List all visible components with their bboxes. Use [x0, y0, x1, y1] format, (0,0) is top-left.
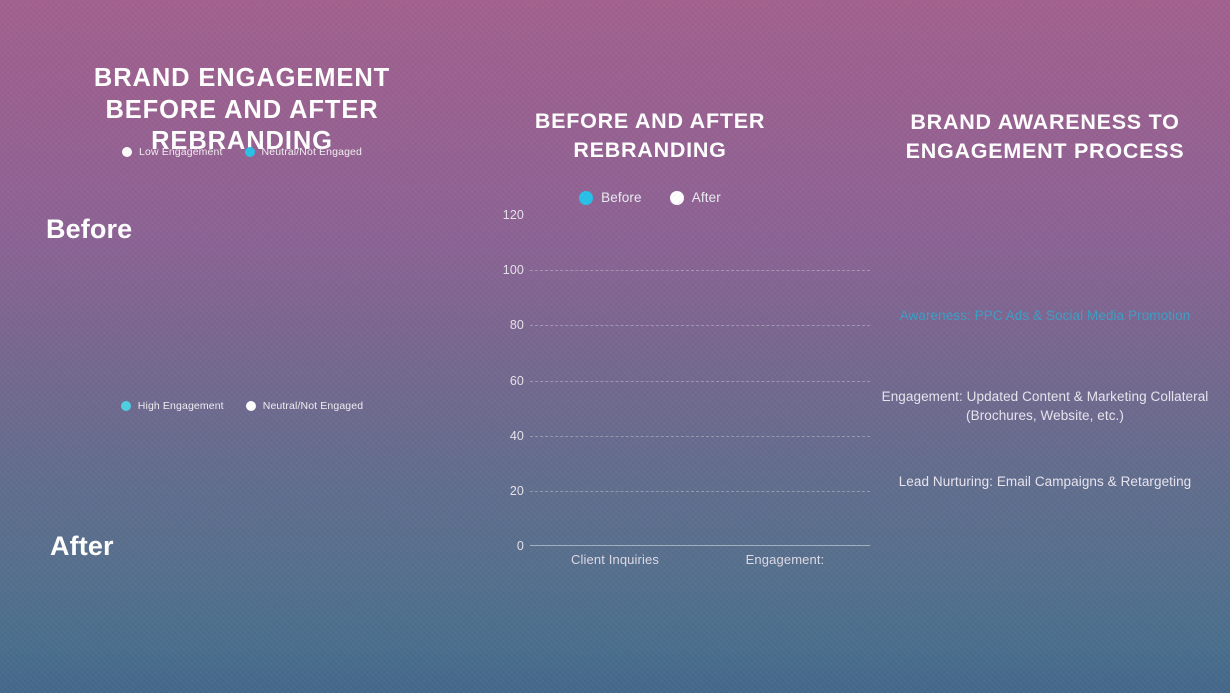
y-axis-tick-label: 100 — [503, 263, 524, 277]
legend-dot-icon — [246, 401, 256, 411]
legend-after-group: High Engagement Neutral/Not Engaged — [52, 400, 432, 412]
chart-legend: Before After — [460, 190, 840, 205]
chart-bars-layer — [530, 215, 870, 546]
legend-dot-icon — [579, 191, 593, 205]
chart-title: BEFORE AND AFTER REBRANDING — [460, 107, 840, 164]
y-axis: 020406080100120 — [485, 215, 530, 546]
panel-brand-engagement: BRAND ENGAGEMENT BEFORE AND AFTER REBRAN… — [0, 0, 440, 693]
funnel-step-engagement[interactable]: Engagement: Updated Content & Marketing … — [870, 387, 1220, 425]
funnel-step-awareness[interactable]: Awareness: PPC Ads & Social Media Promot… — [870, 306, 1220, 325]
legend-dot-icon — [670, 191, 684, 205]
chart-legend-item-before[interactable]: Before — [579, 190, 642, 205]
funnel-step-lead-nurturing[interactable]: Lead Nurturing: Email Campaigns & Retarg… — [870, 472, 1220, 491]
chart-legend-item-after[interactable]: After — [670, 190, 721, 205]
chart-plot-wrapper: 020406080100120 Client InquiriesEngageme… — [485, 215, 870, 550]
chart-legend-label: After — [692, 190, 721, 205]
y-axis-tick-label: 20 — [510, 484, 524, 498]
legend-item-neutral-not-engaged: Neutral/Not Engaged — [246, 400, 363, 412]
legend-label: Low Engagement — [139, 146, 223, 158]
legend-label: High Engagement — [138, 400, 224, 412]
y-axis-tick-label: 120 — [503, 208, 524, 222]
legend-item-high-engagement: High Engagement — [121, 400, 224, 412]
legend-before-group: Low Engagement Neutral/Not Engaged — [52, 146, 432, 158]
chart-baseline — [530, 545, 870, 546]
y-axis-tick-label: 80 — [510, 318, 524, 332]
funnel-step-list: Awareness: PPC Ads & Social Media Promot… — [870, 290, 1220, 492]
y-axis-tick-label: 0 — [517, 539, 524, 553]
legend-dot-icon — [121, 401, 131, 411]
panel-awareness-funnel: BRAND AWARENESS TO ENGAGEMENT PROCESS Aw… — [860, 0, 1230, 693]
legend-dot-icon — [245, 147, 255, 157]
chart-plot-area — [530, 215, 870, 546]
legend-label: Neutral/Not Engaged — [263, 400, 363, 412]
y-axis-tick-label: 40 — [510, 429, 524, 443]
slide-root: BRAND ENGAGEMENT BEFORE AND AFTER REBRAN… — [0, 0, 1230, 693]
panel-before-after-chart: BEFORE AND AFTER REBRANDING Before After… — [440, 0, 860, 693]
x-axis-tick-label: Client Inquiries — [530, 552, 700, 567]
legend-label: Neutral/Not Engaged — [262, 146, 362, 158]
x-axis: Client InquiriesEngagement: — [530, 552, 870, 567]
x-axis-tick-label: Engagement: — [700, 552, 870, 567]
y-axis-tick-label: 60 — [510, 374, 524, 388]
legend-item-low-engagement: Low Engagement — [122, 146, 223, 158]
legend-dot-icon — [122, 147, 132, 157]
page-title: BRAND ENGAGEMENT BEFORE AND AFTER REBRAN… — [52, 63, 432, 158]
funnel-title: BRAND AWARENESS TO ENGAGEMENT PROCESS — [870, 108, 1220, 166]
legend-item-neutral-not-engaged: Neutral/Not Engaged — [245, 146, 362, 158]
chart-legend-label: Before — [601, 190, 642, 205]
after-label: After — [50, 531, 114, 562]
before-label: Before — [46, 214, 132, 245]
